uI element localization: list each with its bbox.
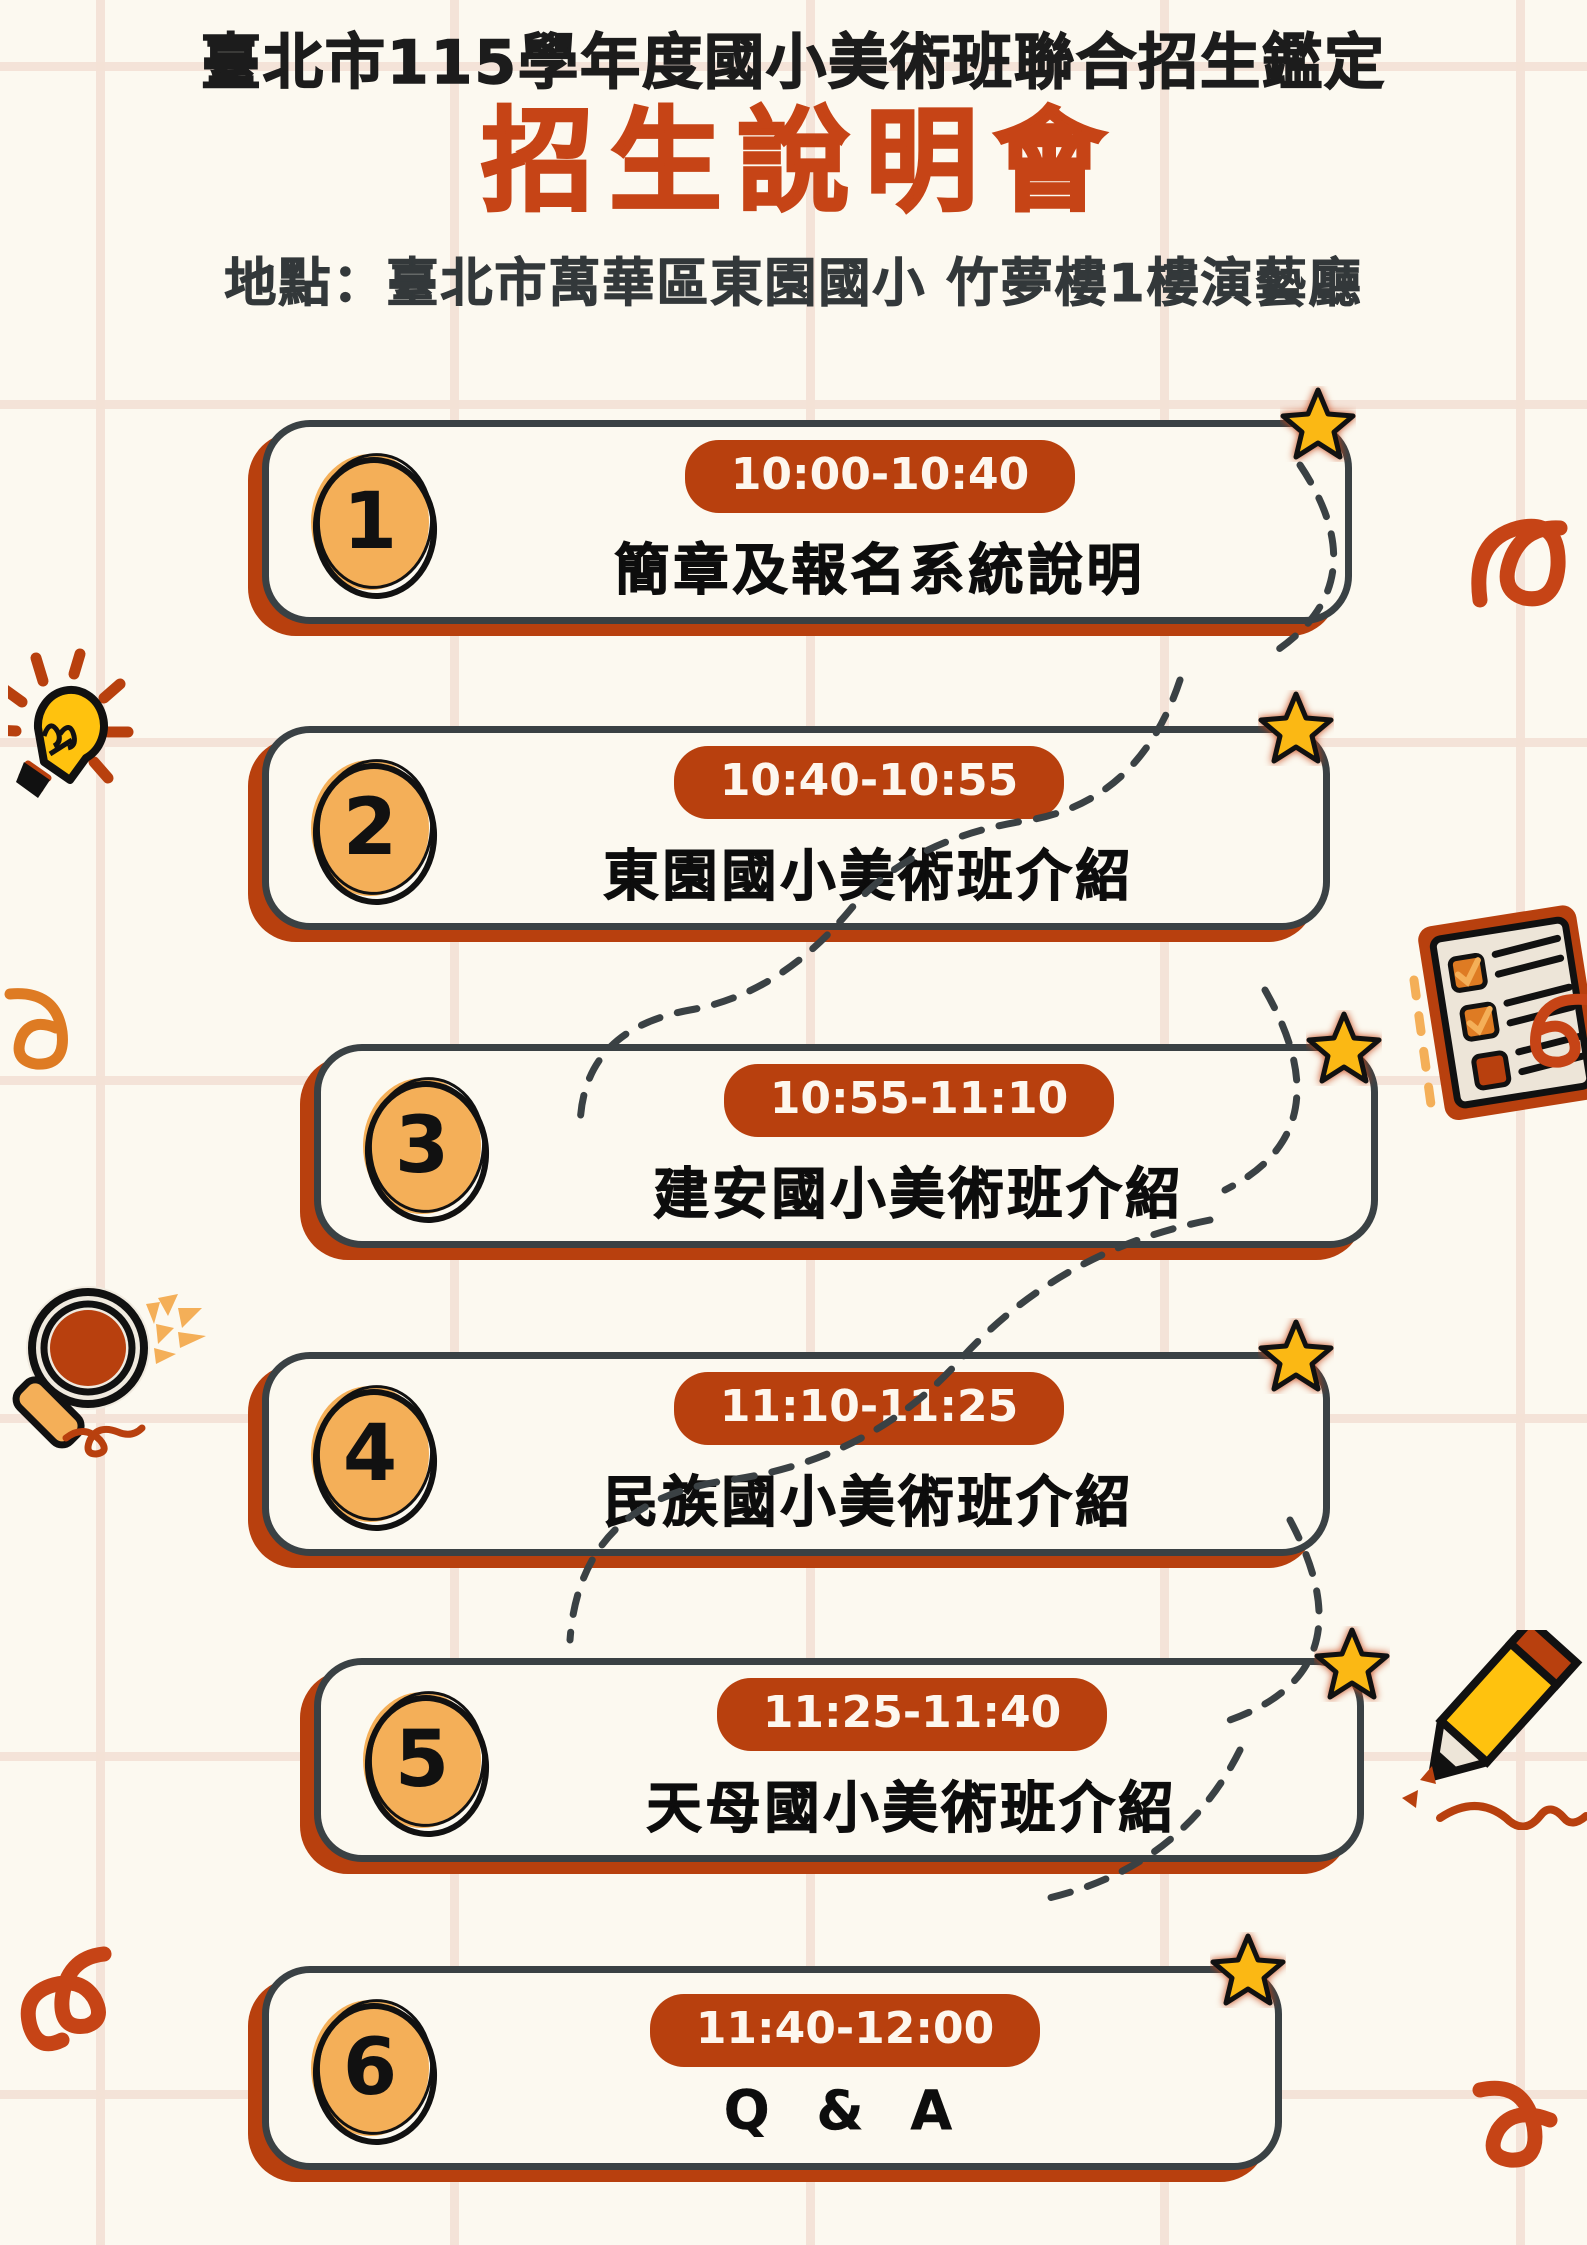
- agenda-number: 4: [343, 1415, 397, 1493]
- agenda-number: 6: [343, 2029, 397, 2107]
- agenda-number: 1: [343, 483, 397, 561]
- star-icon: [1258, 690, 1334, 766]
- agenda-number: 5: [395, 1721, 449, 1799]
- venue-line: 地點：臺北市萬華區東園國小 竹夢樓1樓演藝廳: [0, 241, 1587, 316]
- agenda-list: 1 10:00-10:40 簡章及報名系統說明 2 10:40-10:55 東園…: [0, 430, 1587, 2245]
- page-title-subtitle: 臺北市115學年度國小美術班聯合招生鑑定: [0, 30, 1587, 96]
- star-icon: [1314, 1626, 1390, 1702]
- poster-header: 臺北市115學年度國小美術班聯合招生鑑定 招生說明會 地點：臺北市萬華區東園國小…: [0, 0, 1587, 316]
- star-icon: [1280, 386, 1356, 462]
- dashed-connectors: [0, 430, 1587, 2245]
- star-icon: [1306, 1010, 1382, 1086]
- agenda-number: 2: [343, 789, 397, 867]
- star-icon: [1210, 1932, 1286, 2008]
- star-icon: [1258, 1318, 1334, 1394]
- page-title: 招生說明會: [0, 102, 1587, 223]
- agenda-number: 3: [395, 1107, 449, 1185]
